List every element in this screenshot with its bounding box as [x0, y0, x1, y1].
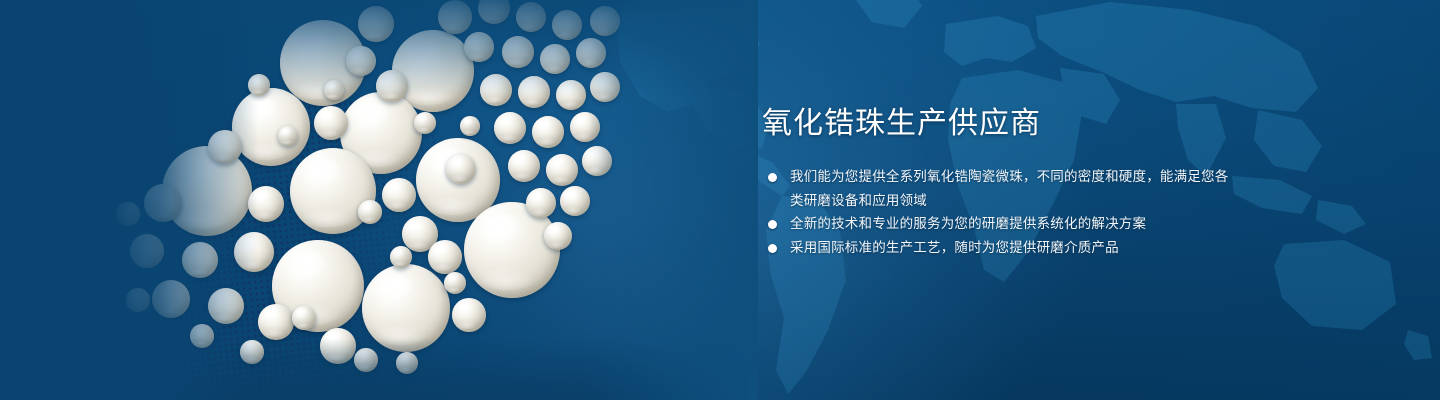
photo-fade-right	[588, 0, 758, 400]
photo-fade-left	[108, 0, 258, 400]
bullet-text: 采用国际标准的生产工艺，随时为您提供研磨介质产品	[790, 240, 1119, 256]
bullet-dot-icon	[768, 220, 777, 229]
banner-bullet-list: 我们能为您提供全系列氧化锆陶瓷微珠，不同的密度和硬度，能满足您各类研磨设备和应用…	[762, 166, 1232, 260]
bullet-text: 我们能为您提供全系列氧化锆陶瓷微珠，不同的密度和硬度，能满足您各类研磨设备和应用…	[790, 169, 1228, 209]
list-item: 全新的技术和专业的服务为您的研磨提供系统化的解决方案	[762, 213, 1232, 237]
zirconia-beads-photo	[108, 0, 748, 400]
banner-headline: 氧化锆珠生产供应商	[762, 104, 1232, 144]
bullet-dot-icon	[768, 173, 777, 182]
bullet-dot-icon	[768, 244, 777, 253]
banner-copy: 氧化锆珠生产供应商 我们能为您提供全系列氧化锆陶瓷微珠，不同的密度和硬度，能满足…	[762, 104, 1232, 260]
bullet-text: 全新的技术和专业的服务为您的研磨提供系统化的解决方案	[790, 216, 1146, 232]
list-item: 采用国际标准的生产工艺，随时为您提供研磨介质产品	[762, 237, 1232, 261]
hero-banner: 氧化锆珠生产供应商 我们能为您提供全系列氧化锆陶瓷微珠，不同的密度和硬度，能满足…	[0, 0, 1440, 400]
list-item: 我们能为您提供全系列氧化锆陶瓷微珠，不同的密度和硬度，能满足您各类研磨设备和应用…	[762, 166, 1232, 213]
